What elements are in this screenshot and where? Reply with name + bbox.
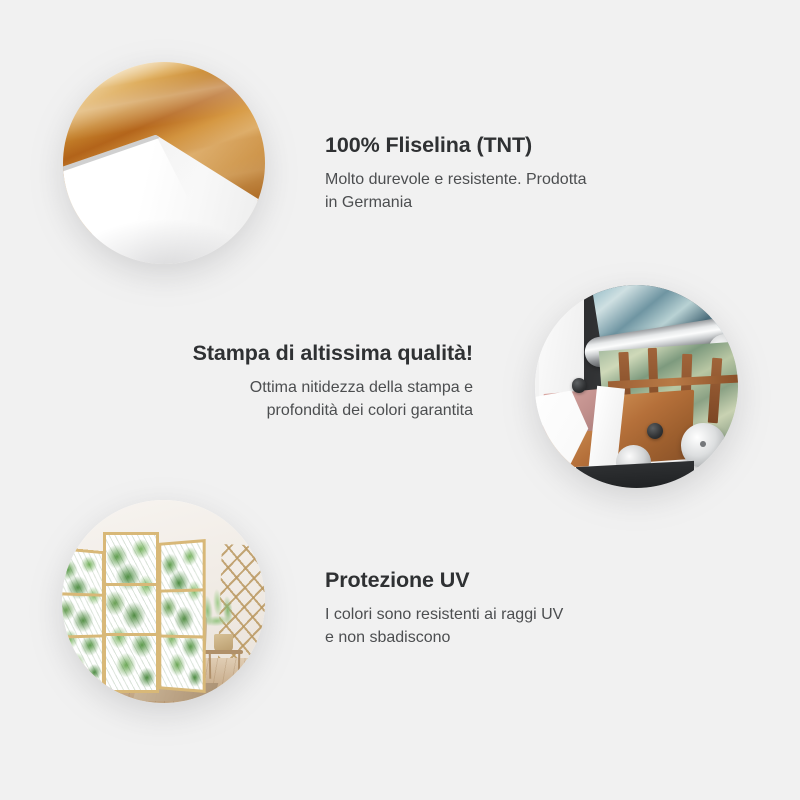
feature-description-line-2: in Germania (325, 194, 412, 211)
printer-knob-1 (572, 378, 586, 392)
infographic-canvas: 100% Fliselina (TNT) Molto durevole e re… (0, 0, 800, 800)
wallpaper-roll-peel-photo (63, 62, 265, 264)
feature-text-uv: Protezione UV I colori sono resistenti a… (325, 568, 665, 649)
feature-text-fliselina: 100% Fliselina (TNT) Molto durevole e re… (325, 133, 665, 214)
feature-description-line-1: Ottima nitidezza della stampa e (250, 379, 473, 396)
divider-panel-1 (62, 546, 104, 689)
panel-rail-bottom (106, 633, 157, 636)
panel-rail-top (162, 588, 203, 592)
printer-knob-2 (647, 423, 663, 439)
feature-description-line-2: profondità dei colori garantita (267, 402, 473, 419)
panel-rail-bottom (162, 634, 203, 638)
room-divider-tropical-photo (62, 500, 265, 703)
feature-description-line-2: e non sbadiscono (325, 629, 450, 646)
feature-title-stampa: Stampa di altissima qualità! (133, 341, 473, 367)
feature-description-uv: I colori sono resistenti ai raggi UV e n… (325, 604, 665, 649)
feature-text-stampa: Stampa di altissima qualità! Ottima niti… (133, 341, 473, 422)
feature-title-fliselina: 100% Fliselina (TNT) (325, 133, 665, 159)
feature-description-fliselina: Molto durevole e resistente. Prodotta in… (325, 169, 665, 214)
peeled-paper-undershadow (63, 179, 265, 264)
feature-image-uv (62, 500, 265, 703)
feature-description-stampa: Ottima nitidezza della stampa e profondi… (133, 377, 473, 422)
panel-rail-top (106, 583, 157, 586)
feature-title-uv: Protezione UV (325, 568, 665, 594)
leaf-veins-texture (106, 535, 157, 689)
divider-panel-2 (103, 532, 160, 692)
divider-panel-3 (159, 539, 206, 693)
printing-machine-photo (535, 285, 738, 488)
leaf-veins-texture (62, 550, 102, 686)
feature-description-line-1: I colori sono resistenti ai raggi UV (325, 606, 563, 623)
room-side-table (204, 650, 243, 678)
leaf-veins-texture (162, 542, 203, 690)
feature-image-fliselina (63, 62, 265, 264)
feature-description-line-1: Molto durevole e resistente. Prodotta (325, 171, 586, 188)
feature-image-stampa (535, 285, 738, 488)
